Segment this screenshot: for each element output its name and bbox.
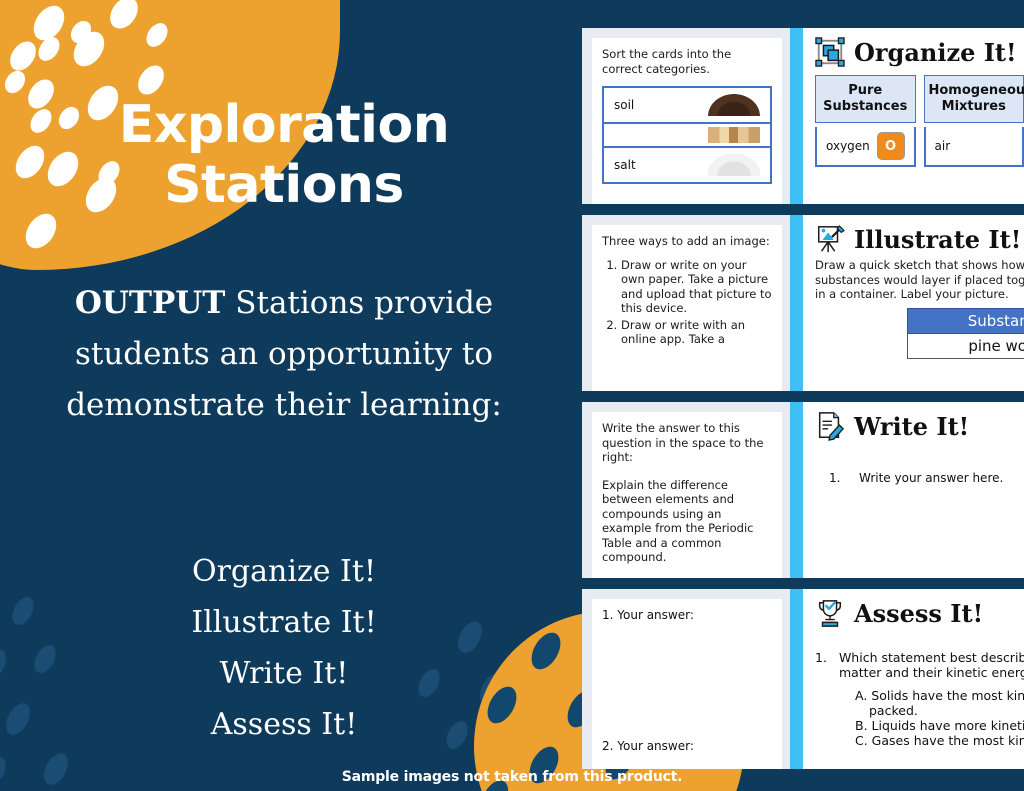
salt-pile-image bbox=[708, 154, 760, 176]
assess-question-number: 1. bbox=[815, 650, 827, 680]
write-answer-row-1[interactable]: 1.Write your answer here. bbox=[815, 471, 1024, 485]
wood-blocks-image bbox=[708, 127, 760, 143]
card-write-accent-bar bbox=[790, 402, 803, 578]
soil-pile-image bbox=[708, 94, 760, 116]
page-title: Exploration Stations bbox=[0, 95, 568, 215]
assess-question-block: 1. Which statement best describes the st… bbox=[815, 650, 1024, 748]
card-illustrate-instruction: Three ways to add an image: bbox=[602, 234, 772, 249]
card-illustrate-steps: Draw or write on your own paper. Take a … bbox=[602, 258, 772, 347]
station-list-item-organize: Organize It! bbox=[24, 546, 544, 597]
card-write-left-sheet: Write the answer to this question in the… bbox=[592, 412, 782, 578]
left-text-column: Exploration Stations OUTPUT Stations pro… bbox=[0, 0, 568, 791]
assess-choice-list[interactable]: A. Solids have the most kinetic energy b… bbox=[855, 688, 1024, 748]
lead-strong-word: OUTPUT bbox=[75, 285, 226, 321]
organize-column-header-homogeneous: Homogeneous Mixtures bbox=[924, 75, 1024, 123]
organize-cell-oxygen[interactable]: oxygen O bbox=[815, 127, 916, 167]
card-organize-header: Organize It! bbox=[815, 37, 1024, 67]
illustrate-substance-table[interactable]: Substance pine wood bbox=[907, 308, 1024, 359]
card-organize-left-pane: Sort the cards into the correct categori… bbox=[582, 28, 790, 204]
card-illustrate-right-pane: Illustrate It! Draw a quick sketch that … bbox=[803, 215, 1024, 391]
organize-column-homogeneous-mixtures[interactable]: Homogeneous Mixtures air bbox=[924, 75, 1024, 167]
organize-cell-air-label: air bbox=[935, 139, 951, 153]
write-answer-number-1: 1. bbox=[829, 471, 859, 485]
assess-question-stem-text: Which statement best describes the state… bbox=[839, 650, 1024, 680]
sortable-card-list[interactable]: soil salt bbox=[602, 86, 772, 184]
illustrate-substance-header: Substance bbox=[907, 308, 1024, 334]
card-illustrate-step-2: Draw or write with an online app. Take a bbox=[621, 318, 772, 347]
station-list-item-write: Write It! bbox=[24, 648, 544, 699]
card-write-header: Write It! bbox=[815, 411, 1024, 441]
sort-row-salt-label: salt bbox=[614, 158, 636, 172]
card-illustrate-accent-bar bbox=[790, 215, 803, 391]
card-assess-accent-bar bbox=[790, 589, 803, 769]
card-illustrate-it[interactable]: Three ways to add an image: Draw or writ… bbox=[582, 215, 1024, 391]
assess-question-stem-line-2: matter and their kinetic energy? bbox=[839, 665, 1024, 680]
station-list-item-assess: Assess It! bbox=[24, 699, 544, 750]
element-tile-oxygen: O bbox=[877, 132, 905, 160]
document-pencil-icon bbox=[815, 411, 845, 441]
card-write-title: Write It! bbox=[854, 412, 969, 441]
card-illustrate-prompt: Draw a quick sketch that shows how these… bbox=[815, 258, 1024, 302]
card-illustrate-left-sheet: Three ways to add an image: Draw or writ… bbox=[592, 225, 782, 391]
assess-choice-c[interactable]: C. Gases have the most kinetic energy of… bbox=[855, 733, 1024, 748]
write-answer-text-1: Write your answer here. bbox=[859, 471, 1003, 485]
easel-paintbrush-icon bbox=[815, 224, 845, 254]
card-assess-title: Assess It! bbox=[854, 599, 983, 628]
assess-answer-slot-1[interactable]: 1. Your answer: bbox=[602, 608, 772, 622]
assess-choice-a-cont: packed. bbox=[855, 703, 1024, 718]
page-title-line-2: Stations bbox=[0, 155, 568, 215]
assess-choice-a[interactable]: A. Solids have the most kinetic energy b… bbox=[855, 688, 1024, 703]
lead-paragraph: OUTPUT Stations provide students an oppo… bbox=[24, 278, 544, 431]
card-assess-right-pane: Assess It! 1. Which statement best descr… bbox=[803, 589, 1024, 769]
card-write-question: Explain the difference between elements … bbox=[602, 478, 772, 565]
station-list-item-illustrate: Illustrate It! bbox=[24, 597, 544, 648]
card-write-left-pane: Write the answer to this question in the… bbox=[582, 402, 790, 578]
card-illustrate-left-pane: Three ways to add an image: Draw or writ… bbox=[582, 215, 790, 391]
sample-card-gallery: Sort the cards into the correct categori… bbox=[582, 28, 1024, 768]
assess-question-stem-line-1: Which statement best describes the state… bbox=[839, 650, 1024, 665]
organize-shapes-icon bbox=[815, 37, 845, 67]
organize-cell-air[interactable]: air bbox=[924, 127, 1024, 167]
organize-column-pure-substances[interactable]: Pure Substances oxygen O bbox=[815, 75, 916, 167]
card-assess-left-sheet: 1. Your answer: 2. Your answer: bbox=[592, 599, 782, 769]
station-list: Organize It! Illustrate It! Write It! As… bbox=[24, 546, 544, 750]
organize-column-header-pure: Pure Substances bbox=[815, 75, 916, 123]
card-illustrate-title: Illustrate It! bbox=[854, 225, 1021, 254]
card-organize-right-pane: Organize It! Pure Substances oxygen O Ho… bbox=[803, 28, 1024, 204]
card-write-right-pane: Write It! 1.Write your answer here. bbox=[803, 402, 1024, 578]
trophy-check-icon bbox=[815, 598, 845, 628]
card-organize-left-sheet: Sort the cards into the correct categori… bbox=[592, 38, 782, 204]
card-write-instruction: Write the answer to this question in the… bbox=[602, 421, 772, 465]
illustrate-substance-row-pine-wood: pine wood bbox=[907, 334, 1024, 359]
assess-answer-slot-2[interactable]: 2. Your answer: bbox=[602, 739, 772, 753]
card-write-it[interactable]: Write the answer to this question in the… bbox=[582, 402, 1024, 578]
card-illustrate-step-1: Draw or write on your own paper. Take a … bbox=[621, 258, 772, 316]
card-organize-title: Organize It! bbox=[854, 38, 1017, 67]
card-illustrate-header: Illustrate It! bbox=[815, 224, 1024, 254]
footer-disclaimer: Sample images not taken from this produc… bbox=[0, 769, 1024, 785]
assess-question-stem: 1. Which statement best describes the st… bbox=[815, 650, 1024, 680]
card-organize-it[interactable]: Sort the cards into the correct categori… bbox=[582, 28, 1024, 204]
card-assess-left-pane: 1. Your answer: 2. Your answer: bbox=[582, 589, 790, 769]
slide-canvas: Exploration Stations OUTPUT Stations pro… bbox=[0, 0, 1024, 791]
organize-cell-oxygen-label: oxygen bbox=[826, 139, 870, 153]
sort-row-soil[interactable]: soil bbox=[602, 86, 772, 124]
sort-row-dragging[interactable] bbox=[602, 122, 772, 148]
card-organize-instruction: Sort the cards into the correct categori… bbox=[602, 47, 772, 76]
card-assess-it[interactable]: 1. Your answer: 2. Your answer: bbox=[582, 589, 1024, 769]
assess-choice-b[interactable]: B. Liquids have more kinetic energy than… bbox=[855, 718, 1024, 733]
organize-category-table: Pure Substances oxygen O Homogeneous Mix… bbox=[815, 75, 1024, 167]
sort-row-salt[interactable]: salt bbox=[602, 146, 772, 184]
sort-row-soil-label: soil bbox=[614, 98, 634, 112]
card-organize-accent-bar bbox=[790, 28, 803, 204]
page-title-line-1: Exploration bbox=[0, 95, 568, 155]
card-assess-header: Assess It! bbox=[815, 598, 1024, 628]
